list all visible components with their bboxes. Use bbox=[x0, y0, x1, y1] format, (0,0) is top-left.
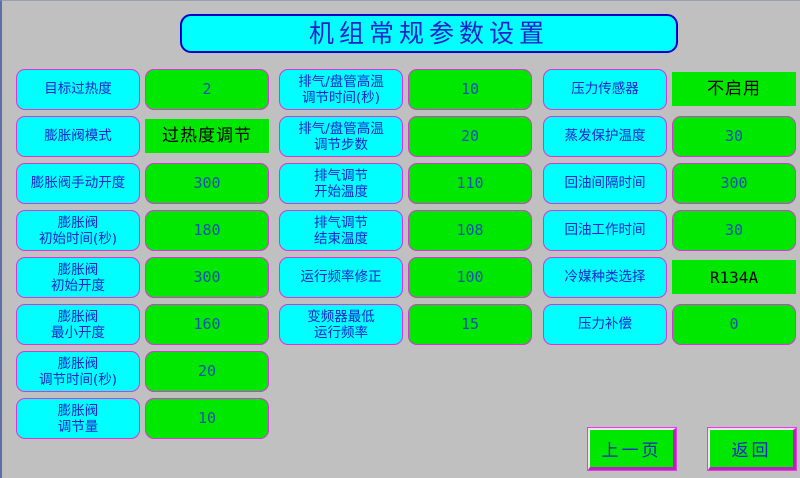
param-label-text: 膨胀阀调节量 bbox=[58, 403, 99, 435]
param-value-field[interactable]: 160 bbox=[145, 304, 269, 345]
param-value-text: 15 bbox=[461, 317, 479, 332]
param-label-line2: 调节时间(秒) bbox=[298, 90, 384, 106]
param-value-field[interactable]: 10 bbox=[145, 398, 269, 439]
prev-page-button[interactable]: 上一页 bbox=[588, 428, 676, 470]
param-value-text: 20 bbox=[198, 364, 216, 379]
param-label: 膨胀阀最小开度 bbox=[16, 304, 140, 345]
param-label-text: 运行频率修正 bbox=[301, 270, 382, 285]
page-title-bar: 机组常规参数设置 bbox=[180, 14, 678, 53]
param-label-line1: 变频器最低 bbox=[307, 309, 375, 325]
param-value-field[interactable]: 100 bbox=[408, 257, 532, 298]
param-label: 膨胀阀初始时间(秒) bbox=[16, 210, 140, 251]
param-value-text: 300 bbox=[193, 270, 220, 285]
return-button-label: 返回 bbox=[732, 436, 772, 461]
param-label: 目标过热度 bbox=[16, 69, 140, 110]
param-label-line1: 排气/盘管高温 bbox=[298, 121, 384, 137]
param-label-text: 膨胀阀初始开度 bbox=[51, 262, 105, 294]
param-value-field[interactable]: 20 bbox=[145, 351, 269, 392]
param-value-text: 10 bbox=[198, 411, 216, 426]
param-value-text: 20 bbox=[461, 129, 479, 144]
param-value-field[interactable]: 30 bbox=[672, 210, 796, 251]
param-label-text: 回油间隔时间 bbox=[565, 176, 646, 191]
param-label-text: 压力补偿 bbox=[578, 317, 632, 332]
param-value-text: 100 bbox=[456, 270, 483, 285]
param-label-text: 排气调节结束温度 bbox=[314, 215, 368, 247]
param-label-line2: 调节量 bbox=[58, 419, 99, 435]
param-label: 压力传感器 bbox=[543, 69, 667, 110]
param-label: 膨胀阀手动开度 bbox=[16, 163, 140, 204]
param-value-field[interactable]: 0 bbox=[672, 304, 796, 345]
param-value-field[interactable]: 300 bbox=[145, 257, 269, 298]
param-label-line2: 开始温度 bbox=[314, 184, 368, 200]
param-label-line1: 膨胀阀 bbox=[39, 215, 117, 231]
param-value-field[interactable]: 110 bbox=[408, 163, 532, 204]
param-select-value[interactable]: 过热度调节 bbox=[145, 119, 269, 153]
param-label-line2: 初始时间(秒) bbox=[39, 231, 117, 247]
param-label-text: 膨胀阀调节时间(秒) bbox=[39, 356, 117, 388]
param-label: 排气/盘管高温调节步数 bbox=[279, 116, 403, 157]
param-label-line2: 运行频率 bbox=[307, 325, 375, 341]
param-value-text: 30 bbox=[725, 129, 743, 144]
param-label-text: 变频器最低运行频率 bbox=[307, 309, 375, 341]
param-label-line1: 膨胀阀 bbox=[51, 262, 105, 278]
param-label-line2: 结束温度 bbox=[314, 231, 368, 247]
param-value-field[interactable]: 300 bbox=[672, 163, 796, 204]
param-value-field[interactable]: 15 bbox=[408, 304, 532, 345]
param-label: 膨胀阀初始开度 bbox=[16, 257, 140, 298]
param-label: 膨胀阀调节时间(秒) bbox=[16, 351, 140, 392]
param-value-text: 180 bbox=[193, 223, 220, 238]
param-label: 排气调节开始温度 bbox=[279, 163, 403, 204]
param-value-field[interactable]: 180 bbox=[145, 210, 269, 251]
param-label: 膨胀阀调节量 bbox=[16, 398, 140, 439]
param-label-line2: 调节时间(秒) bbox=[39, 372, 117, 388]
param-label-text: 压力传感器 bbox=[571, 82, 639, 97]
param-value-field[interactable]: 2 bbox=[145, 69, 269, 110]
param-value-text: 108 bbox=[456, 223, 483, 238]
param-value-text: 过热度调节 bbox=[162, 128, 252, 145]
param-label-text: 回油工作时间 bbox=[565, 223, 646, 238]
param-value-field[interactable]: 30 bbox=[672, 116, 796, 157]
page-title: 机组常规参数设置 bbox=[309, 21, 549, 46]
param-value-text: 300 bbox=[193, 176, 220, 191]
param-label-line2: 初始开度 bbox=[51, 278, 105, 294]
hvac-parameter-settings-screen: 机组常规参数设置 目标过热度2膨胀阀模式过热度调节膨胀阀手动开度300膨胀阀初始… bbox=[0, 0, 800, 478]
param-value-text: 10 bbox=[461, 82, 479, 97]
param-label: 回油间隔时间 bbox=[543, 163, 667, 204]
param-label-line2: 最小开度 bbox=[51, 325, 105, 341]
prev-page-button-label: 上一页 bbox=[602, 436, 662, 461]
param-label: 变频器最低运行频率 bbox=[279, 304, 403, 345]
param-label: 排气/盘管高温调节时间(秒) bbox=[279, 69, 403, 110]
param-label: 膨胀阀模式 bbox=[16, 116, 140, 157]
param-label-text: 膨胀阀模式 bbox=[44, 129, 112, 144]
param-label-text: 冷媒种类选择 bbox=[565, 270, 646, 285]
param-value-text: 110 bbox=[456, 176, 483, 191]
param-label-text: 排气/盘管高温调节步数 bbox=[298, 121, 384, 153]
param-label-line1: 排气调节 bbox=[314, 215, 368, 231]
param-value-field[interactable]: 108 bbox=[408, 210, 532, 251]
param-label-text: 膨胀阀初始时间(秒) bbox=[39, 215, 117, 247]
param-label-line1: 膨胀阀 bbox=[58, 403, 99, 419]
return-button[interactable]: 返回 bbox=[708, 428, 796, 470]
param-label: 回油工作时间 bbox=[543, 210, 667, 251]
param-label-line1: 排气调节 bbox=[314, 168, 368, 184]
param-value-text: 160 bbox=[193, 317, 220, 332]
param-label: 排气调节结束温度 bbox=[279, 210, 403, 251]
param-label-text: 膨胀阀最小开度 bbox=[51, 309, 105, 341]
param-select-value[interactable]: 不启用 bbox=[672, 72, 796, 106]
param-label-line1: 排气/盘管高温 bbox=[298, 74, 384, 90]
param-label-text: 目标过热度 bbox=[44, 82, 112, 97]
param-label-line1: 膨胀阀 bbox=[51, 309, 105, 325]
param-label-line1: 膨胀阀 bbox=[39, 356, 117, 372]
param-label-text: 蒸发保护温度 bbox=[565, 129, 646, 144]
param-value-text: 30 bbox=[725, 223, 743, 238]
param-label: 压力补偿 bbox=[543, 304, 667, 345]
param-label: 蒸发保护温度 bbox=[543, 116, 667, 157]
param-label: 冷媒种类选择 bbox=[543, 257, 667, 298]
param-label-text: 膨胀阀手动开度 bbox=[31, 176, 126, 191]
param-label-text: 排气调节开始温度 bbox=[314, 168, 368, 200]
param-value-text: 2 bbox=[202, 82, 211, 97]
param-value-text: 300 bbox=[720, 176, 747, 191]
param-value-field[interactable]: 300 bbox=[145, 163, 269, 204]
param-value-text: 不启用 bbox=[707, 81, 761, 98]
param-value-field[interactable]: 20 bbox=[408, 116, 532, 157]
param-label: 运行频率修正 bbox=[279, 257, 403, 298]
param-label-line2: 调节步数 bbox=[298, 137, 384, 153]
param-value-text: R134A bbox=[710, 269, 758, 286]
param-value-text: 0 bbox=[729, 317, 738, 332]
param-label-text: 排气/盘管高温调节时间(秒) bbox=[298, 74, 384, 106]
param-select-value[interactable]: R134A bbox=[672, 260, 796, 294]
param-value-field[interactable]: 10 bbox=[408, 69, 532, 110]
